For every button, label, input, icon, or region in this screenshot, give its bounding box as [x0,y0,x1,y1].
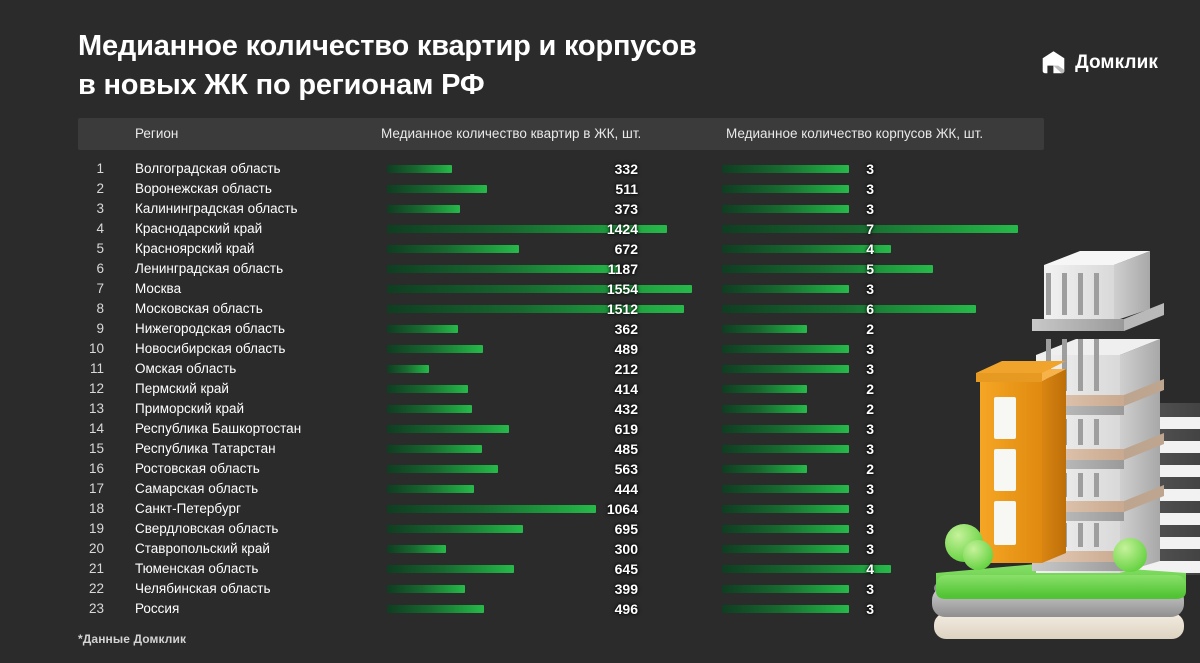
buildings-bar [722,325,807,333]
buildings-bar-track: 2 [722,399,1044,419]
table-row: 4Краснодарский край14247 [78,219,1044,239]
row-region-label: Красноярский край [135,239,254,259]
buildings-bar-track: 2 [722,379,1044,399]
row-rank: 13 [78,399,104,419]
buildings-bar-track: 4 [722,559,1044,579]
flats-value: 1512 [537,299,638,319]
buildings-value: 3 [822,579,874,599]
flats-value: 332 [537,159,638,179]
table-row: 12Пермский край4142 [78,379,1044,399]
buildings-value: 2 [822,379,874,399]
row-region-label: Пермский край [135,379,229,399]
buildings-value: 2 [822,399,874,419]
buildings-bar-track: 3 [722,499,1044,519]
buildings-value: 3 [822,519,874,539]
row-rank: 3 [78,199,104,219]
flats-bar [387,425,509,433]
flats-bar [387,385,468,393]
row-region-label: Волгоградская область [135,159,281,179]
buildings-bar-track: 3 [722,359,1044,379]
buildings-value: 4 [822,559,874,579]
flats-value: 1554 [537,279,638,299]
buildings-bar [722,385,807,393]
table-row: 13Приморский край4322 [78,399,1044,419]
flats-value: 362 [537,319,638,339]
flats-bar [387,185,487,193]
table-row: 2Воронежская область5113 [78,179,1044,199]
flats-bar [387,605,484,613]
domclick-house-cursor-icon [1041,50,1066,75]
flats-bar [387,565,514,573]
row-region-label: Самарская область [135,479,258,499]
table-row: 17Самарская область4443 [78,479,1044,499]
table-row: 6Ленинградская область11875 [78,259,1044,279]
data-table: Регион Медианное количество квартир в ЖК… [78,118,1044,619]
flats-bar [387,205,460,213]
buildings-bar-track: 4 [722,239,1044,259]
table-row: 5Красноярский край6724 [78,239,1044,259]
buildings-bar-track: 3 [722,279,1044,299]
buildings-bar-track: 3 [722,599,1044,619]
flats-value: 1424 [537,219,638,239]
row-rank: 19 [78,519,104,539]
row-rank: 9 [78,319,104,339]
flats-value: 399 [537,579,638,599]
buildings-value: 2 [822,459,874,479]
page-title: Медианное количество квартир и корпусов … [78,27,918,104]
flats-bar [387,485,474,493]
table-row: 18Санкт-Петербург10643 [78,499,1044,519]
row-rank: 15 [78,439,104,459]
buildings-bar-track: 3 [722,159,1044,179]
flats-value: 373 [537,199,638,219]
flats-value: 1064 [537,499,638,519]
buildings-value: 5 [822,259,874,279]
flats-value: 444 [537,479,638,499]
buildings-bar-track: 5 [722,259,1044,279]
flats-value: 563 [537,459,638,479]
table-row: 7Москва15543 [78,279,1044,299]
row-rank: 22 [78,579,104,599]
flats-bar [387,165,452,173]
table-row: 9Нижегородская область3622 [78,319,1044,339]
row-rank: 8 [78,299,104,319]
buildings-value: 4 [822,239,874,259]
row-region-label: Краснодарский край [135,219,262,239]
buildings-bar-track: 6 [722,299,1044,319]
flats-bar [387,365,429,373]
flats-value: 645 [537,559,638,579]
buildings-bar-track: 3 [722,519,1044,539]
row-region-label: Ленинградская область [135,259,283,279]
row-region-label: Нижегородская область [135,319,285,339]
flats-bar [387,305,684,313]
table-row: 10Новосибирская область4893 [78,339,1044,359]
row-region-label: Республика Татарстан [135,439,276,459]
buildings-value: 3 [822,479,874,499]
table-row: 8Московская область15126 [78,299,1044,319]
row-region-label: Москва [135,279,181,299]
brand-logo: Домклик [1041,50,1158,75]
buildings-value: 3 [822,599,874,619]
table-row: 21Тюменская область6454 [78,559,1044,579]
buildings-value: 3 [822,179,874,199]
buildings-bar-track: 3 [722,439,1044,459]
flats-value: 496 [537,599,638,619]
table-row: 19Свердловская область6953 [78,519,1044,539]
buildings-value: 3 [822,199,874,219]
buildings-bar-track: 3 [722,179,1044,199]
striped-tower [1114,403,1200,575]
buildings-bar-track: 3 [722,479,1044,499]
buildings-value: 3 [822,539,874,559]
buildings-bar-track: 3 [722,539,1044,559]
flats-bar [387,345,483,353]
buildings-bar-track: 3 [722,339,1044,359]
table-body: 1Волгоградская область33232Воронежская о… [78,159,1044,619]
table-row: 22Челябинская область3993 [78,579,1044,599]
buildings-value: 3 [822,359,874,379]
flats-value: 414 [537,379,638,399]
row-rank: 2 [78,179,104,199]
row-rank: 11 [78,359,104,379]
flats-bar [387,325,458,333]
row-rank: 20 [78,539,104,559]
row-rank: 5 [78,239,104,259]
table-row: 23Россия4963 [78,599,1044,619]
flats-bar [387,585,465,593]
buildings-bar-track: 2 [722,319,1044,339]
buildings-bar-track: 3 [722,199,1044,219]
row-region-label: Воронежская область [135,179,272,199]
row-region-label: Приморский край [135,399,244,419]
source-footnote: *Данные Домклик [78,632,186,646]
buildings-value: 3 [822,419,874,439]
row-region-label: Ставропольский край [135,539,270,559]
flats-bar [387,445,482,453]
flats-bar [387,525,523,533]
row-region-label: Московская область [135,299,263,319]
row-rank: 12 [78,379,104,399]
buildings-value: 2 [822,319,874,339]
row-rank: 21 [78,559,104,579]
buildings-bar [722,465,807,473]
brand-name: Домклик [1075,52,1158,74]
buildings-value: 3 [822,439,874,459]
row-region-label: Россия [135,599,179,619]
white-tower [1032,251,1164,573]
buildings-value: 3 [822,499,874,519]
table-row: 3Калининградская область3733 [78,199,1044,219]
table-row: 16Ростовская область5632 [78,459,1044,479]
buildings-value: 3 [822,339,874,359]
buildings-value: 3 [822,279,874,299]
row-rank: 16 [78,459,104,479]
buildings-value: 3 [822,159,874,179]
flats-value: 300 [537,539,638,559]
flats-value: 511 [537,179,638,199]
row-rank: 18 [78,499,104,519]
table-row: 1Волгоградская область3323 [78,159,1044,179]
flats-value: 672 [537,239,638,259]
buildings-value: 7 [822,219,874,239]
column-header-flats: Медианное количество квартир в ЖК, шт. [381,118,641,150]
infographic-canvas: Медианное количество квартир и корпусов … [0,0,1200,663]
row-region-label: Калининградская область [135,199,298,219]
buildings-value: 6 [822,299,874,319]
buildings-bar-track: 2 [722,459,1044,479]
table-header-row: Регион Медианное количество квартир в ЖК… [78,118,1044,150]
flats-bar [387,545,446,553]
column-header-region: Регион [135,118,178,150]
flats-bar [387,465,498,473]
table-row: 20Ставропольский край3003 [78,539,1044,559]
row-region-label: Челябинская область [135,579,270,599]
row-rank: 17 [78,479,104,499]
column-header-buildings: Медианное количество корпусов ЖК, шт. [726,118,983,150]
buildings-bar-track: 3 [722,419,1044,439]
flats-bar [387,405,472,413]
row-region-label: Омская область [135,359,236,379]
row-region-label: Республика Башкортостан [135,419,301,439]
table-row: 11Омская область2123 [78,359,1044,379]
row-rank: 4 [78,219,104,239]
flats-value: 489 [537,339,638,359]
buildings-bar-track: 7 [722,219,1044,239]
flats-value: 619 [537,419,638,439]
row-region-label: Новосибирская область [135,339,285,359]
row-region-label: Санкт-Петербург [135,499,241,519]
buildings-bar-track: 3 [722,579,1044,599]
row-region-label: Свердловская область [135,519,278,539]
flats-value: 212 [537,359,638,379]
flats-value: 485 [537,439,638,459]
row-rank: 1 [78,159,104,179]
row-region-label: Тюменская область [135,559,258,579]
row-rank: 10 [78,339,104,359]
table-row: 14Республика Башкортостан6193 [78,419,1044,439]
flats-bar [387,245,519,253]
row-rank: 23 [78,599,104,619]
row-rank: 7 [78,279,104,299]
table-row: 15Республика Татарстан4853 [78,439,1044,459]
flats-value: 432 [537,399,638,419]
flats-value: 695 [537,519,638,539]
flats-value: 1187 [537,259,638,279]
buildings-bar [722,405,807,413]
row-region-label: Ростовская область [135,459,260,479]
row-rank: 14 [78,419,104,439]
row-rank: 6 [78,259,104,279]
